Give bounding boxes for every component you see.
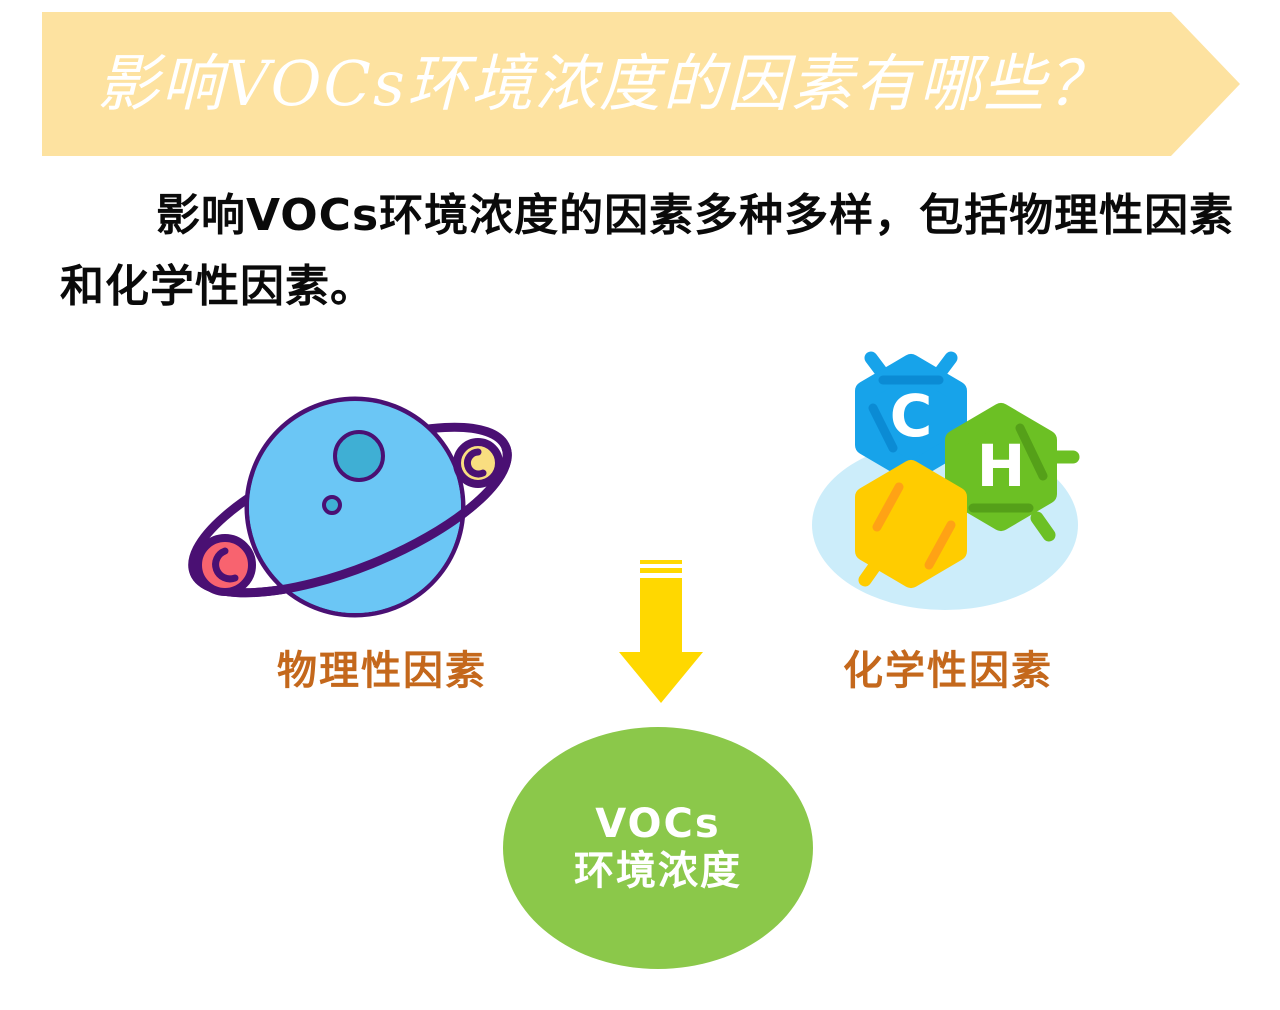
carbon-atom-label: C xyxy=(890,382,933,450)
moon-yellow xyxy=(457,442,499,484)
header-banner: 影响VOCs环境浓度的因素有哪些？ xyxy=(42,12,1240,156)
result-bubble: VOCs 环境浓度 xyxy=(503,727,813,969)
down-arrow-icon xyxy=(600,560,720,710)
caption-physical-factors: 物理性因素 xyxy=(277,638,487,696)
planet-svg xyxy=(175,360,525,620)
moon-red xyxy=(198,538,252,592)
down-arrow-svg xyxy=(600,560,720,710)
hydrocarbon-molecule-icon: C H xyxy=(805,350,1085,625)
result-label-vocs: VOCs xyxy=(595,801,720,848)
molecule-svg: C H xyxy=(805,350,1085,625)
diagram-illustrations: C H xyxy=(0,340,1280,660)
body-paragraph: 影响VOCs环境浓度的因素多种多样，包括物理性因素和化学性因素。 xyxy=(60,180,1235,323)
planet-with-orbit-icon xyxy=(175,360,525,620)
caption-chemical-factors: 化学性因素 xyxy=(843,638,1053,696)
page-title: 影响VOCs环境浓度的因素有哪些？ xyxy=(97,53,1111,115)
carbon-hexagon: C xyxy=(865,364,957,472)
planet-crater-large xyxy=(335,432,383,480)
hydrogen-hexagon: H xyxy=(955,413,1047,521)
result-label-concentration: 环境浓度 xyxy=(574,848,742,895)
hydrogen-atom-label: H xyxy=(977,432,1026,500)
yellow-hexagon xyxy=(865,470,957,578)
planet-crater-small xyxy=(324,497,340,513)
